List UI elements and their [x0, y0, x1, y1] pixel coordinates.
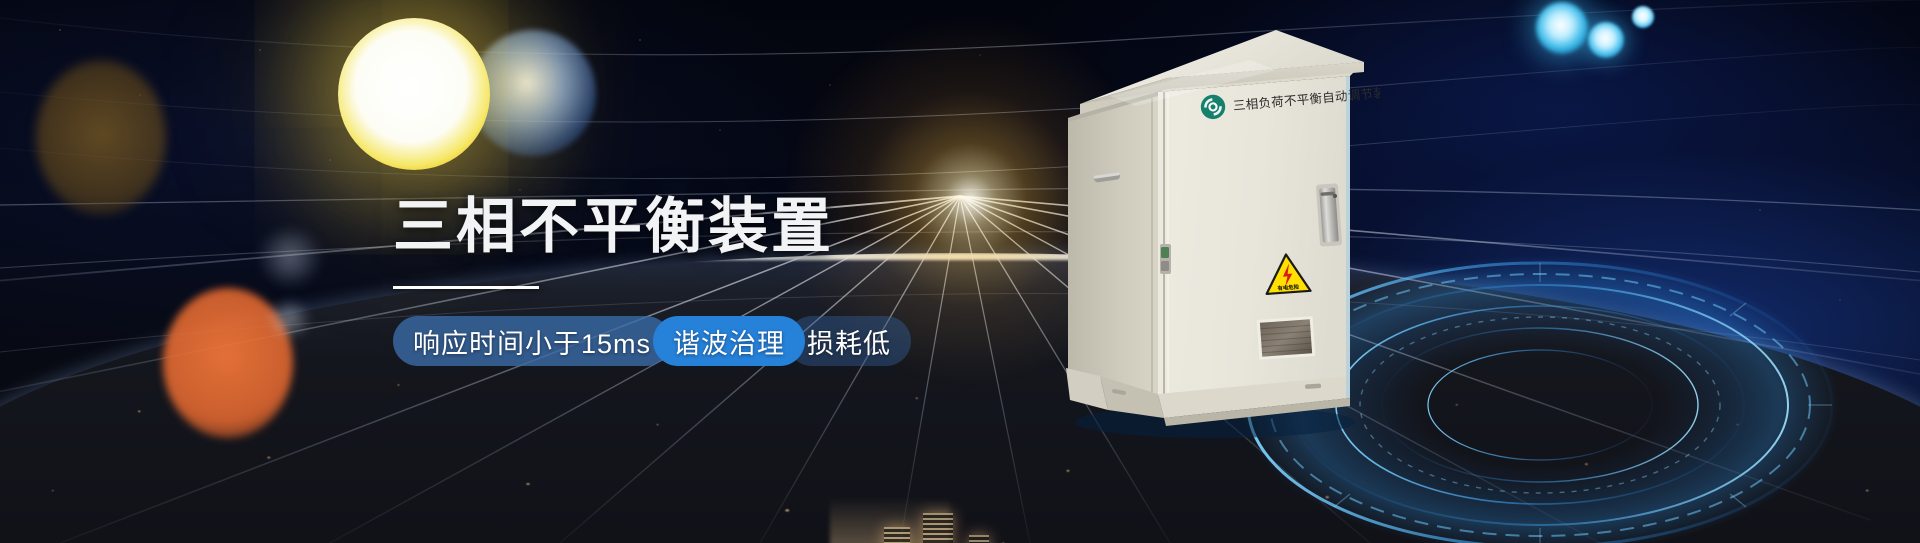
title-divider — [393, 286, 539, 289]
bokeh-teal-orb — [1632, 6, 1654, 28]
feature-tag-harmonic-control[interactable]: 谐波治理 — [653, 316, 805, 366]
hero-text-block: 三相不平衡装置 响应时间小于15ms 谐波治理 损耗低 — [393, 196, 953, 366]
bokeh-teal-orb — [1588, 22, 1624, 58]
front-door-handle — [1316, 183, 1342, 246]
bokeh-smudge — [268, 300, 310, 338]
bokeh-teal-orb — [1536, 2, 1588, 54]
city-building — [923, 513, 953, 543]
cabinet-svg: 三相负荷不平衡自动调节装置 有电危险 — [1050, 18, 1380, 438]
door-latch — [1160, 244, 1171, 274]
city-building — [884, 527, 910, 543]
product-hero-banner: 三相负荷不平衡自动调节装置 有电危险 — [0, 0, 1920, 543]
ventilation-panel — [1257, 316, 1316, 360]
feature-tag-list: 响应时间小于15ms 谐波治理 损耗低 — [393, 316, 953, 366]
product-cabinet: 三相负荷不平衡自动调节装置 有电危险 — [1050, 18, 1380, 438]
page-title: 三相不平衡装置 — [393, 196, 953, 258]
feature-tag-low-loss[interactable]: 损耗低 — [787, 316, 911, 366]
bokeh-amber-orb — [36, 60, 166, 215]
city-building — [969, 535, 989, 543]
bokeh-white-orb — [338, 18, 490, 170]
feature-tag-response-time[interactable]: 响应时间小于15ms — [393, 316, 671, 366]
bokeh-smudge — [260, 230, 320, 284]
